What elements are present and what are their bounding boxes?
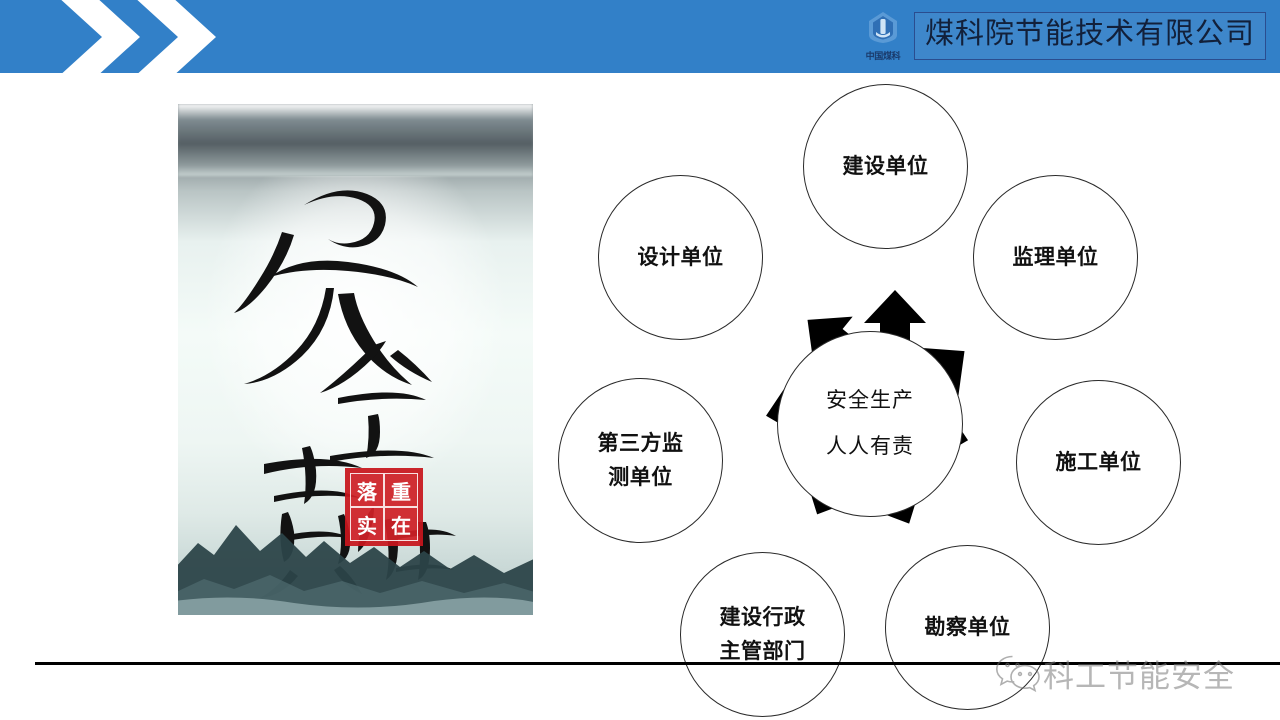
diagram-node-sheji-danwei[interactable]: 设计单位 [598,175,763,340]
node-label: 施工单位 [1056,448,1142,477]
node-label-line-1: 建设行政 [720,601,806,635]
poster-mountains [178,497,533,615]
safety-poster-image: 落 重 实 在 [178,104,533,615]
double-chevron-right-icon [44,0,234,73]
node-label-line-2: 测单位 [598,461,684,495]
company-logo-caption: 中国煤科 [856,51,910,61]
company-badge: 中国煤科 煤科院节能技术有限公司 [856,10,1266,62]
node-label: 设计单位 [638,243,724,272]
node-label: 监理单位 [1013,243,1099,272]
wechat-icon [995,653,1041,693]
header-bar: 中国煤科 煤科院节能技术有限公司 [0,0,1280,73]
responsibility-diagram: 安全生产 人人有责 建设单位 监理单位 施工单位 勘察单位 建设行政 主管部门 … [545,80,1245,720]
diagram-center-node: 安全生产 人人有责 [777,331,963,517]
china-coal-emblem-icon [864,10,902,44]
center-line-1: 安全生产 [826,378,914,424]
wechat-watermark: 科工节能安全 [995,645,1280,701]
diagram-node-shigong-danwei[interactable]: 施工单位 [1016,380,1181,545]
node-label: 建设单位 [843,152,929,181]
node-label: 勘察单位 [925,613,1011,642]
diagram-node-jianshe-danwei[interactable]: 建设单位 [803,84,968,249]
center-line-2: 人人有责 [826,424,914,470]
diagram-node-xingzheng-bumen[interactable]: 建设行政 主管部门 [680,552,845,717]
company-logo: 中国煤科 [856,10,910,62]
diagram-node-jianli-danwei[interactable]: 监理单位 [973,175,1138,340]
node-label-line-1: 第三方监 [598,427,684,461]
watermark-text: 科工节能安全 [1043,651,1235,696]
diagram-node-disanfang-jiance[interactable]: 第三方监 测单位 [558,378,723,543]
company-name: 煤科院节能技术有限公司 [914,12,1266,60]
